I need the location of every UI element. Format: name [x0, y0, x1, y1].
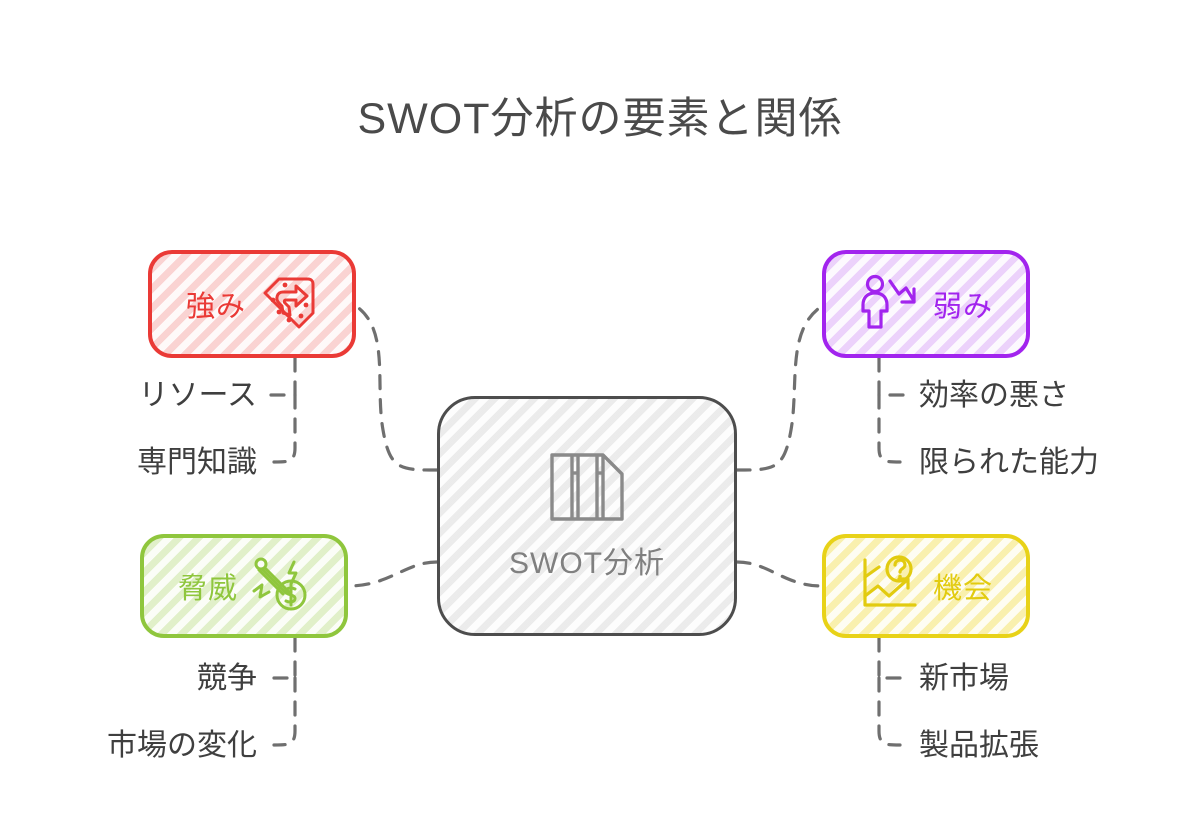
branch-node-weaknesses[interactable]: 弱み — [822, 250, 1030, 358]
sword-coin-icon — [250, 555, 310, 618]
connector-center-opportunities — [737, 562, 822, 586]
center-node[interactable]: SWOT分析 — [437, 396, 737, 636]
leaf-label-opportunities-1: 製品拡張 — [919, 731, 1039, 761]
connector-opportunities-leaf-0 — [879, 638, 906, 678]
connector-threats-leaf-1 — [274, 678, 295, 745]
leaf-label-strengths-1: 専門知識 — [97, 448, 257, 478]
connector-weaknesses-leaf-0 — [879, 358, 906, 395]
leaf-label-threats-1: 市場の変化 — [57, 731, 257, 761]
connector-center-threats — [348, 562, 437, 586]
leaf-label-weaknesses-0: 効率の悪さ — [919, 381, 1069, 411]
branch-node-strengths[interactable]: 強み — [148, 250, 356, 358]
leaf-label-opportunities-0: 新市場 — [919, 664, 1009, 694]
branch-label-weaknesses: 弱み — [933, 283, 993, 325]
branch-label-strengths: 強み — [186, 283, 246, 325]
connector-threats-leaf-0 — [268, 638, 295, 678]
chart-question-icon — [859, 555, 921, 618]
person-down-arrow-icon — [859, 273, 921, 336]
connector-opportunities-leaf-1 — [879, 678, 900, 745]
branch-label-opportunities: 機会 — [933, 565, 993, 607]
tag-arrow-icon — [258, 273, 318, 336]
connector-strengths-leaf-1 — [274, 395, 295, 462]
branch-label-threats: 脅威 — [178, 565, 238, 607]
leaf-label-weaknesses-1: 限られた能力 — [919, 448, 1099, 478]
connector-weaknesses-leaf-1 — [879, 395, 900, 462]
diagram-canvas: SWOT分析の要素と関係 — [0, 0, 1200, 829]
document-bars-icon — [548, 451, 626, 528]
center-label: SWOT分析 — [509, 538, 665, 582]
connector-center-strengths — [356, 306, 437, 470]
branch-node-threats[interactable]: 脅威 — [140, 534, 348, 638]
leaf-label-threats-0: 競争 — [110, 664, 257, 694]
branch-node-opportunities[interactable]: 機会 — [822, 534, 1030, 638]
connector-center-weaknesses — [737, 306, 822, 470]
leaf-label-strengths-0: リソース — [107, 381, 257, 411]
connector-strengths-leaf-0 — [268, 358, 295, 395]
